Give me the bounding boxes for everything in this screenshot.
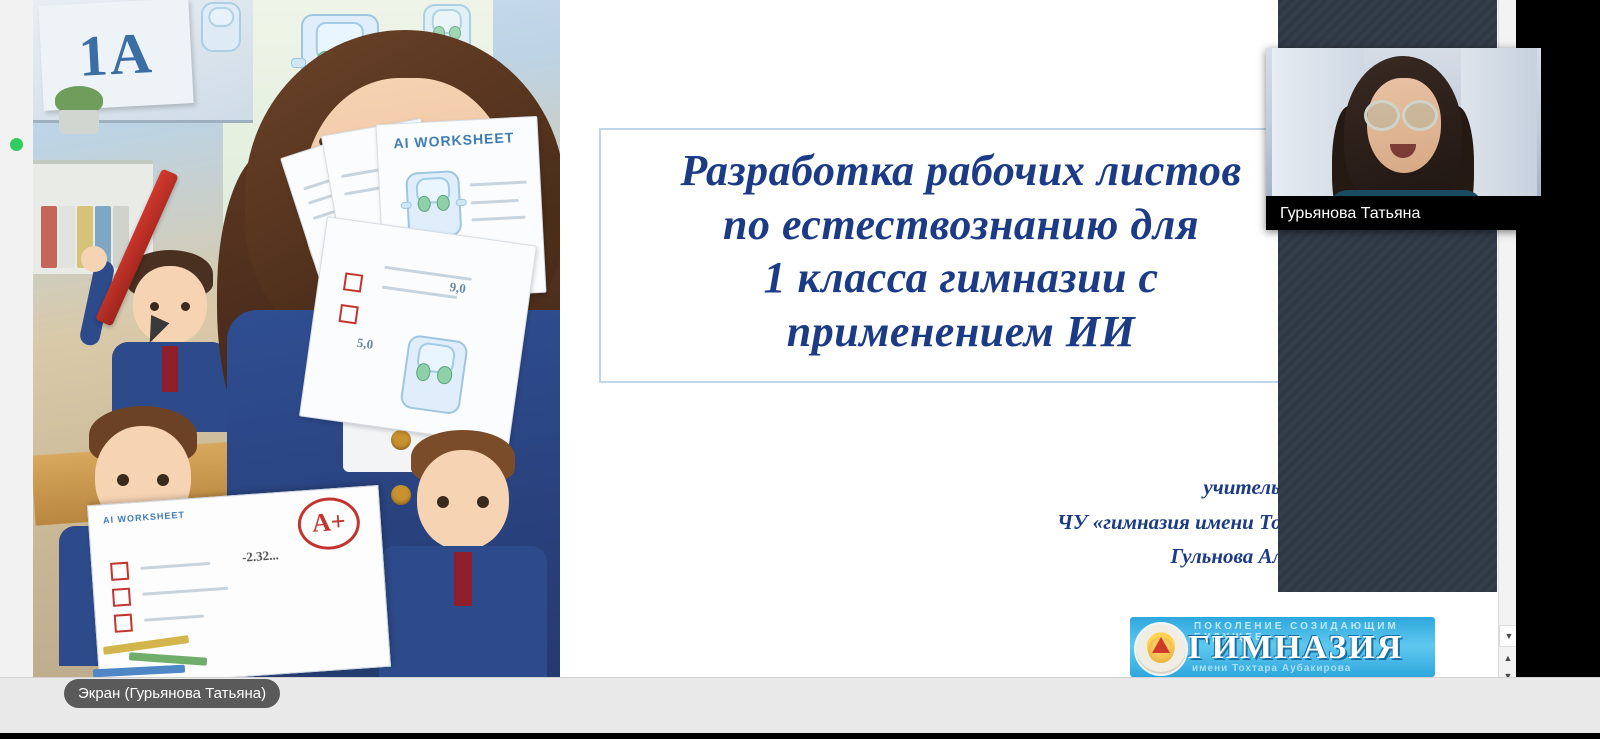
previous-slide-button[interactable]: ▲ [1499,648,1516,668]
screen-share-label: Экран (Гурьянова Татьяна) [64,679,280,708]
worksheet-checkbox [339,304,359,324]
slide-title-line-1: Разработка рабочих листов [611,144,1311,198]
student-right [363,430,560,677]
slide-title-line-4: применением ИИ [611,305,1311,359]
worksheet-checkbox [112,588,131,607]
worksheet-robot-2 [399,334,469,416]
student-eye [157,474,169,486]
next-slide-button[interactable]: ▼ [1499,666,1516,677]
participant-glasses-right [1402,100,1438,131]
book [59,206,75,268]
slide-title-line-3: 1 класса гимназии с [611,251,1311,305]
worksheet-mark: 9,0 [449,279,467,297]
meeting-screen-share-window: 1А [0,0,1600,739]
robot-eye-left [415,362,432,381]
participant-video-tile[interactable]: Гурьянова Татьяна [1266,48,1541,230]
participant-name-label: Гурьянова Татьяна [1280,205,1420,223]
worksheet-checkbox [110,562,129,581]
crest-flag [1152,637,1170,653]
worksheet-mark: 5,0 [356,335,374,353]
participant-glasses-left [1364,100,1400,131]
slide-title-line-2: по естествознанию для [611,198,1311,252]
robot-eye-left [417,196,431,212]
gymnasium-crest-icon [1134,622,1188,676]
student-eye [477,496,489,508]
scroll-down-button[interactable]: ▼ [1499,625,1516,647]
screen-sharing-indicator [10,138,23,151]
held-worksheet-mark: -2.32... [241,547,279,566]
robot-arm-right [455,199,466,207]
student-eye [437,496,449,508]
gymnasium-logo: ПОКОЛЕНИЕ СОЗИДАЮЩИМ БУДУЩЕЕ ГИМНАЗИЯ им… [1130,617,1435,677]
logo-main-text: ГИМНАЗИЯ [1188,629,1403,667]
slide-title-box: Разработка рабочих листов по естествозна… [599,128,1323,383]
robot-eye-right [436,365,453,384]
student-tie [162,346,178,392]
robot-arm-left [400,202,411,210]
logo-sub-text: имени Тохтара Аубакирова [1192,663,1351,674]
student-eye [181,302,190,311]
plant-pot [59,110,99,134]
worksheet-checkbox [343,272,363,292]
student-tie [454,552,472,606]
slide-cover-illustration: 1А [33,0,560,677]
worksheet-title: AI WORKSHEET [393,129,515,151]
window-bottom-gutter [0,733,1600,739]
book [41,206,57,268]
potted-plant [51,88,107,134]
student-head [417,450,509,550]
worksheet-checkbox [114,614,133,633]
student-eye [150,302,159,311]
robot-eye-right [436,195,450,211]
student-eye [117,474,129,486]
student-hand [81,246,107,272]
worksheet-fan: AI WORKSHEET [288,120,560,460]
held-worksheet-title: AI WORKSHEET [103,510,186,526]
robot-head [208,7,234,28]
worksheet-sheet-front: 9,0 5,0 [299,216,537,446]
grade-mark: A+ [296,495,361,551]
